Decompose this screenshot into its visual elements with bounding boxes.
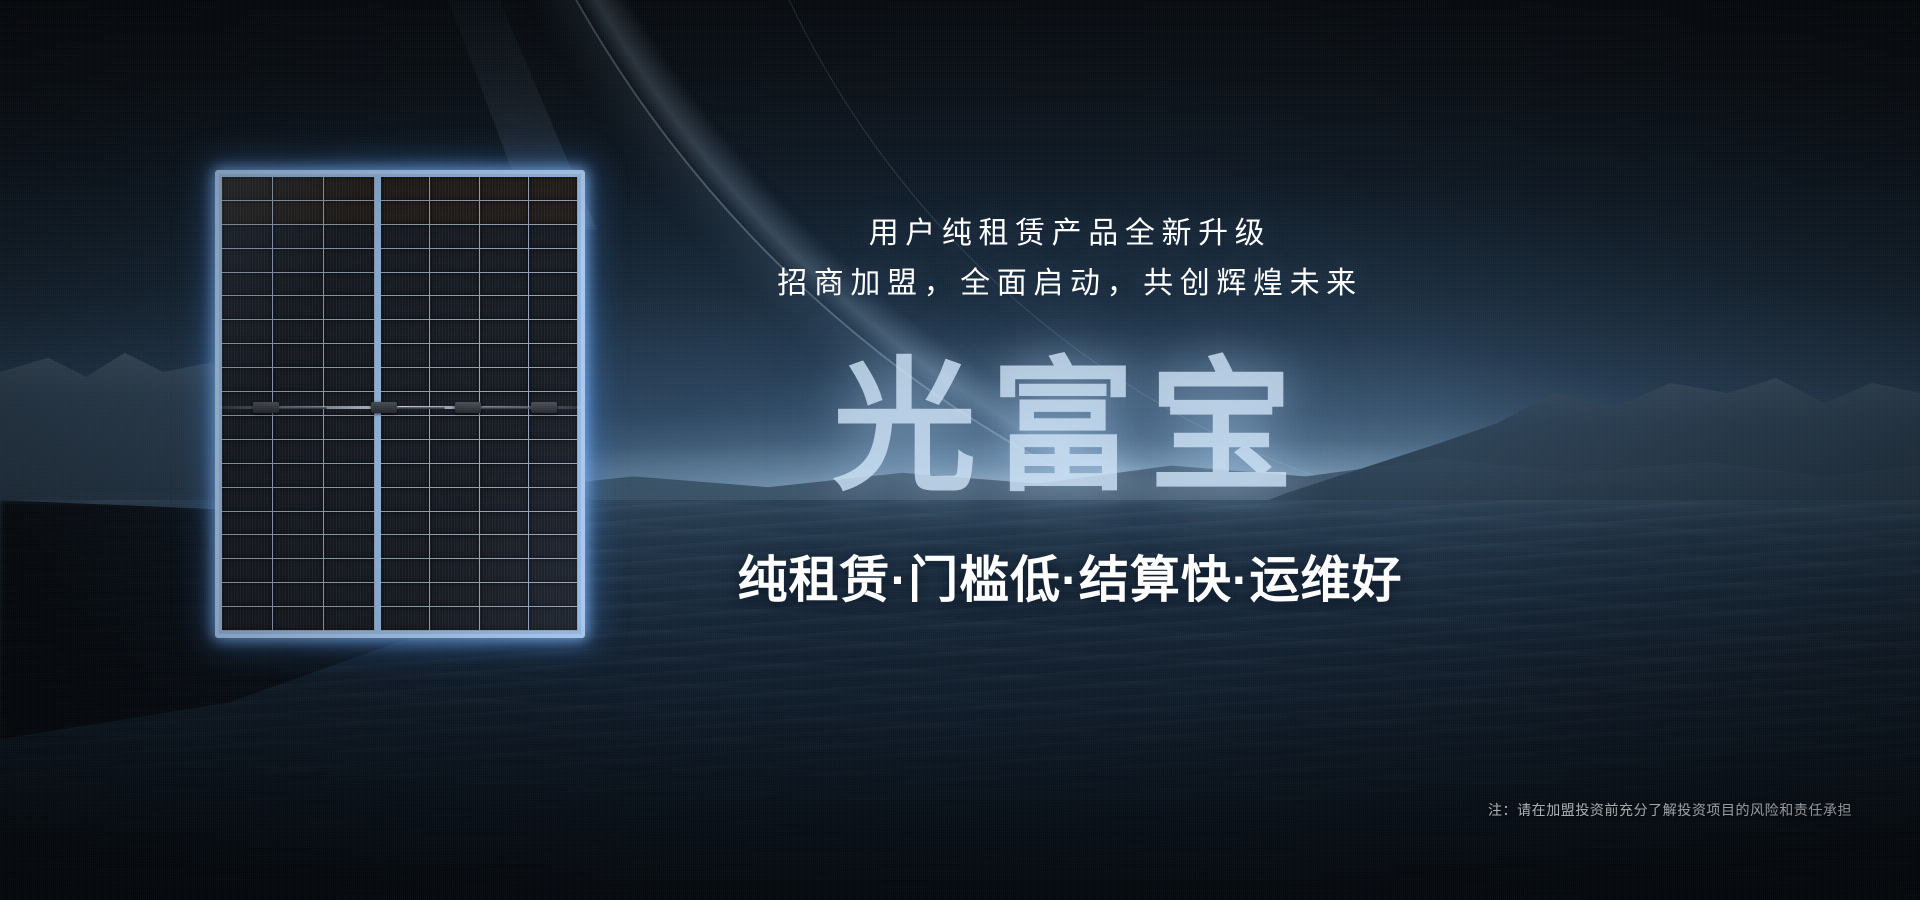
solar-cell	[430, 320, 479, 344]
solar-cell	[324, 177, 375, 201]
solar-cell	[222, 512, 273, 536]
brand-title: 光富宝	[0, 352, 1920, 503]
solar-cell	[273, 512, 324, 536]
solar-cell	[324, 320, 375, 344]
headline-primary: 用户纯租赁产品全新升级	[0, 208, 1920, 252]
solar-cell	[273, 177, 324, 201]
solar-cell	[381, 512, 430, 536]
solar-cell	[529, 177, 578, 201]
solar-cell	[529, 320, 578, 344]
disclaimer-note: 注：请在加盟投资前充分了解投资项目的风险和责任承担	[1488, 800, 1852, 820]
tagline: 纯租赁·门槛低·结算快·运维好	[0, 540, 1920, 612]
solar-cell	[381, 320, 430, 344]
solar-cell	[480, 320, 529, 344]
headline-secondary: 招商加盟，全面启动，共创辉煌未来	[0, 258, 1920, 302]
solar-cell	[529, 512, 578, 536]
promotional-banner: 用户纯租赁产品全新升级 招商加盟，全面启动，共创辉煌未来 光富宝 纯租赁·门槛低…	[0, 0, 1920, 900]
solar-cell	[222, 320, 273, 344]
solar-cell	[480, 177, 529, 201]
solar-cell	[273, 320, 324, 344]
solar-cell	[480, 512, 529, 536]
solar-cell	[222, 177, 273, 201]
solar-cell	[430, 177, 479, 201]
solar-cell	[430, 512, 479, 536]
solar-cell	[381, 177, 430, 201]
solar-cell	[324, 512, 375, 536]
